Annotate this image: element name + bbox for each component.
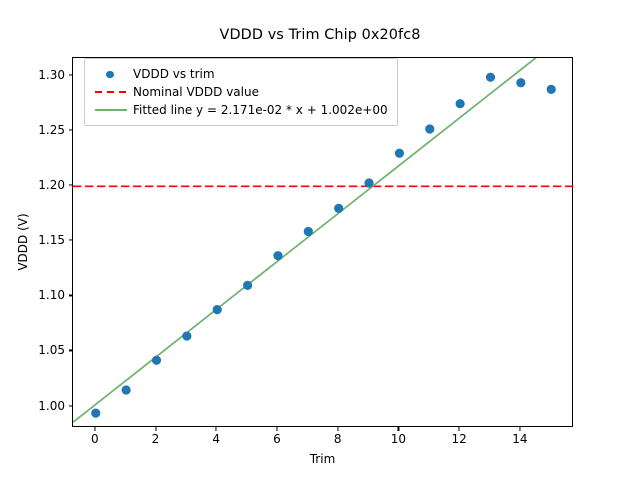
chart-legend: VDDD vs trimNominal VDDD valueFitted lin… — [84, 58, 398, 126]
data-point — [364, 178, 373, 187]
x-tick-label: 12 — [451, 432, 466, 446]
data-point — [486, 73, 495, 82]
chart-title: VDDD vs Trim Chip 0x20fc8 — [0, 27, 640, 43]
data-point — [334, 204, 343, 213]
x-tick-label: 4 — [212, 432, 220, 446]
data-point — [91, 409, 100, 418]
legend-line-glyph — [95, 109, 127, 111]
legend-dot-glyph — [106, 71, 114, 79]
legend-entry: VDDD vs trim — [93, 65, 388, 83]
data-point — [395, 149, 404, 158]
x-axis-tick-labels: 02468101214 — [72, 432, 573, 450]
legend-dashed-line-icon — [93, 83, 129, 101]
data-point — [273, 251, 282, 260]
data-point — [182, 331, 191, 340]
legend-entry-label: VDDD vs trim — [129, 67, 215, 81]
legend-dashline-glyph — [95, 91, 127, 93]
x-tick-label: 2 — [152, 432, 160, 446]
x-tick-label: 8 — [334, 432, 342, 446]
data-point — [152, 356, 161, 365]
x-tick-label: 14 — [512, 432, 527, 446]
data-point — [122, 385, 131, 394]
data-point — [243, 281, 252, 290]
x-axis-label: Trim — [72, 452, 573, 466]
x-tick-label: 0 — [91, 432, 99, 446]
legend-marker-dot-icon — [93, 65, 129, 83]
data-point — [425, 124, 434, 133]
legend-entry: Nominal VDDD value — [93, 83, 388, 101]
data-point — [516, 78, 525, 87]
legend-entry: Fitted line y = 2.171e-02 * x + 1.002e+0… — [93, 101, 388, 119]
data-point — [456, 99, 465, 108]
legend-solid-line-icon — [93, 101, 129, 119]
matplotlib-figure: VDDD vs Trim Chip 0x20fc8 1.001.051.101.… — [0, 0, 640, 480]
legend-entry-label: Nominal VDDD value — [129, 85, 259, 99]
x-tick-label: 10 — [391, 432, 406, 446]
data-point — [547, 85, 556, 94]
y-axis-tick-marks — [0, 57, 72, 427]
data-point — [213, 305, 222, 314]
data-point — [304, 227, 313, 236]
y-axis-label: VDDD (V) — [16, 57, 32, 427]
legend-entry-label: Fitted line y = 2.171e-02 * x + 1.002e+0… — [129, 103, 388, 117]
x-tick-label: 6 — [273, 432, 281, 446]
